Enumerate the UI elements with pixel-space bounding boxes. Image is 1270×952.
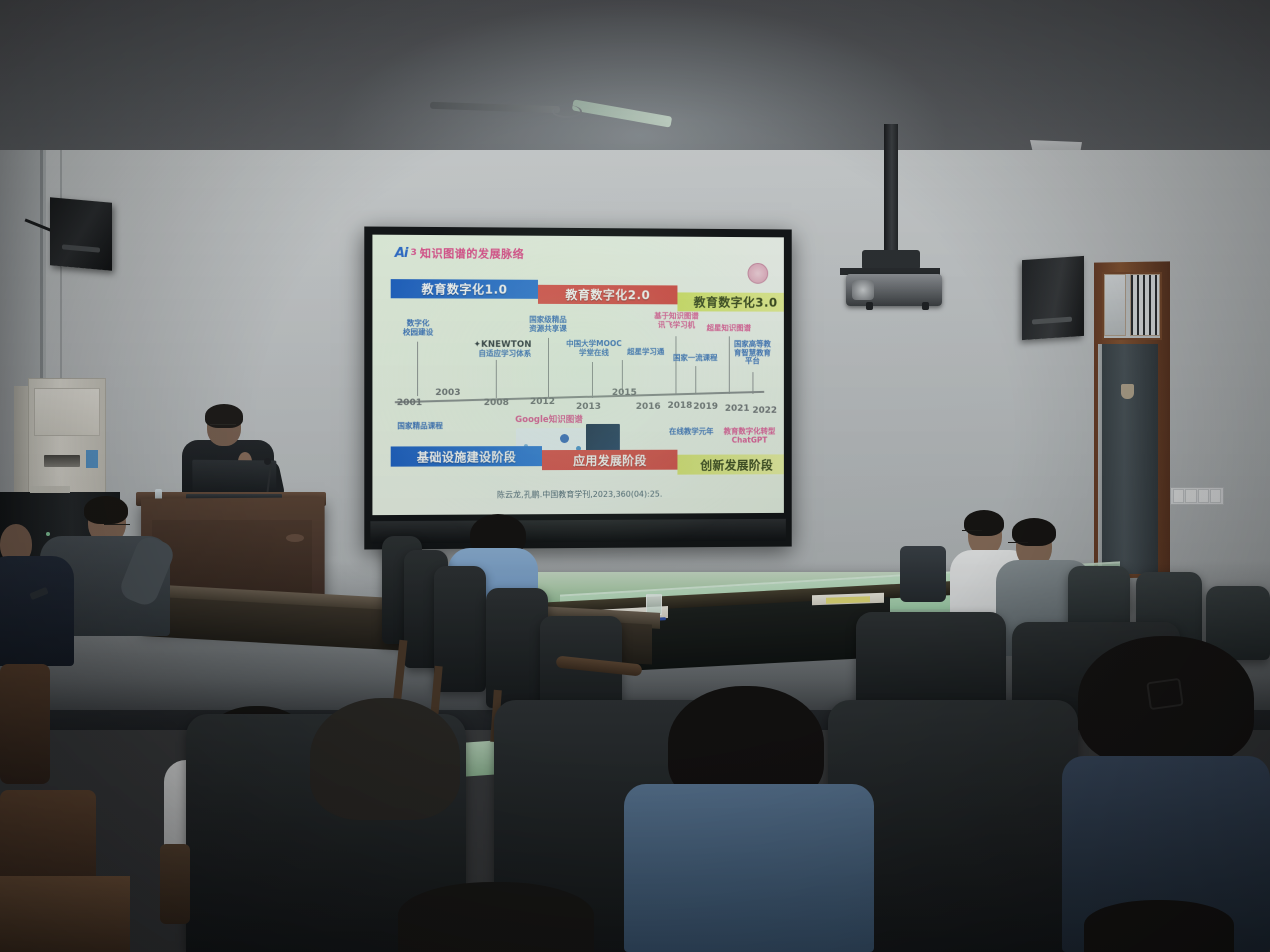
transom-pane-left <box>1104 274 1126 336</box>
microphone-icon[interactable] <box>264 458 271 465</box>
projection-screen-frame: Ai 3 知识图谱的发展脉络 教育数字化1.0 教育数字化2.0 教育数字化3.… <box>364 226 791 549</box>
transom-window-bars-icon <box>1130 274 1160 336</box>
slide-title: 知识图谱的发展脉络 <box>420 245 524 262</box>
timeline-tick <box>695 366 696 394</box>
chair[interactable] <box>856 612 1006 712</box>
slide-citation: 陈云龙,孔鹏.中国教育学刊,2023,360(04):25. <box>372 488 783 501</box>
speaker-grill <box>62 244 100 252</box>
timeline-label-2016-above: 基于知识图谱 讯飞学习机 <box>646 312 707 329</box>
air-conditioner-label <box>86 450 98 468</box>
slide-content: Ai 3 知识图谱的发展脉络 教育数字化1.0 教育数字化2.0 教育数字化3.… <box>372 235 783 516</box>
slide-section-number: 3 <box>411 248 417 258</box>
projector-mount-pole <box>884 124 898 254</box>
attendee-foreground-blue-body <box>624 784 874 952</box>
timeline-label-2022-below: 教育数字化转型 ChatGPT <box>721 428 778 445</box>
entry-door[interactable] <box>1102 344 1158 574</box>
timeline-year: 2008 <box>484 398 509 408</box>
ai-logo-icon: Ai <box>395 245 408 260</box>
ceiling-light-glow <box>330 0 950 150</box>
timeline-label-2001-below: 国家精品课程 <box>391 422 450 431</box>
phase-bar-3: 教育数字化3.0 <box>677 292 783 311</box>
timeline-label-2008-above: 自适应学习体系 <box>470 350 540 359</box>
attendee-left-grey-hair <box>84 496 128 524</box>
top-phase-bars: 教育数字化1.0 教育数字化2.0 教育数字化3.0 <box>391 279 772 311</box>
phase-bar-1: 教育数字化1.0 <box>391 279 538 299</box>
projector-adjust-knob <box>866 302 873 310</box>
timeline-tick <box>592 362 593 398</box>
switch-toggle[interactable] <box>1173 489 1184 503</box>
speaker-grill <box>1032 317 1072 325</box>
switch-toggle[interactable] <box>1210 489 1221 503</box>
attendee-grey-plaid-glasses-icon <box>1008 542 1028 548</box>
attendee-left-navy-body <box>0 556 74 666</box>
stage-bar-2: 应用发展阶段 <box>542 450 677 470</box>
attendee-left-grey-glasses-icon <box>104 524 130 530</box>
slide-header: Ai 3 知识图谱的发展脉络 <box>395 245 776 263</box>
wall-speaker-left <box>50 197 112 270</box>
projector-lens-icon <box>852 280 874 300</box>
timeline-year: 2019 <box>693 402 718 412</box>
timeline-label-2012-above: 国家级精品 资源共享课 <box>520 316 576 333</box>
projection-screen-surface: Ai 3 知识图谱的发展脉络 教育数字化1.0 教育数字化2.0 教育数字化3.… <box>372 235 783 516</box>
timeline-year: 2003 <box>435 388 460 398</box>
projector-adjust-knob <box>922 302 929 310</box>
attendee-foreground-bottom-hair <box>1084 900 1234 952</box>
air-conditioner-vent-icon <box>44 455 80 467</box>
air-conditioner-panel <box>34 388 100 436</box>
switch-toggle[interactable] <box>1198 489 1209 503</box>
timeline-label-2013-above: 中国大学MOOC 学堂在线 <box>562 340 626 357</box>
rack-shelf-paper <box>30 486 70 493</box>
attendee-foreground-left-hair <box>398 882 594 952</box>
phase-bar-2: 教育数字化2.0 <box>538 285 677 305</box>
timeline-label-2019-below: 在线教学元年 <box>662 428 721 437</box>
timeline-tick <box>675 336 676 394</box>
timeline-label-2018-above: 国家一流课程 <box>670 354 721 363</box>
door-handle-icon[interactable] <box>1121 384 1134 399</box>
timeline-year: 2015 <box>612 388 637 398</box>
attendee-foreground-center-hair <box>310 698 460 820</box>
timeline-label-2015-above: 超星学习通 <box>622 348 670 357</box>
switch-toggle[interactable] <box>1185 489 1196 503</box>
chair-armrest <box>160 844 190 924</box>
equipment-rack-led-icon <box>46 532 50 536</box>
timeline-label-2019-above: 超星知识图谱 <box>703 324 754 333</box>
projector-mount-head <box>862 250 920 270</box>
timeline-tick <box>496 360 497 398</box>
presenter-glasses-icon <box>210 424 236 430</box>
timeline-label-2001-above: 数字化 校园建设 <box>393 319 444 337</box>
timeline-tick <box>729 336 730 394</box>
timeline-year: 2021 <box>725 404 750 414</box>
screenshot-root: Ai 3 知识图谱的发展脉络 教育数字化1.0 教育数字化2.0 教育数字化3.… <box>0 0 1270 952</box>
attendee-white-shirt-glasses-icon <box>962 530 982 536</box>
google-graph-node <box>560 434 569 443</box>
podium-emblem-icon <box>286 534 304 542</box>
timeline-year: 2001 <box>397 398 422 408</box>
ceiling-fan-hub <box>552 105 582 118</box>
timeline-year: 2012 <box>530 397 555 407</box>
timeline-label-2012-below: Google知识图谱 <box>510 416 588 426</box>
attendee-bag <box>900 546 946 602</box>
wooden-chair[interactable] <box>0 664 50 784</box>
attendee-foreground-right-glasses-icon <box>1146 678 1184 710</box>
screen-bottom-rail <box>370 519 785 544</box>
timeline-tick <box>417 342 418 396</box>
stage-bar-1: 基础设施建设阶段 <box>391 446 542 467</box>
wooden-stool[interactable] <box>0 876 130 952</box>
light-switch-panel[interactable] <box>1170 487 1224 505</box>
bottom-phase-bars: 基础设施建设阶段 应用发展阶段 创新发展阶段 <box>391 446 772 475</box>
timeline-label-2021-above: 国家高等教 育智慧教育 平台 <box>731 340 774 366</box>
timeline-year: 2018 <box>668 401 693 411</box>
timeline-year: 2022 <box>752 406 777 416</box>
timeline-tick <box>548 338 549 398</box>
timeline-year: 2016 <box>636 402 661 412</box>
wall-speaker-right <box>1022 256 1084 340</box>
timeline-year: 2013 <box>576 402 601 412</box>
stage-bar-3: 创新发展阶段 <box>677 454 783 474</box>
